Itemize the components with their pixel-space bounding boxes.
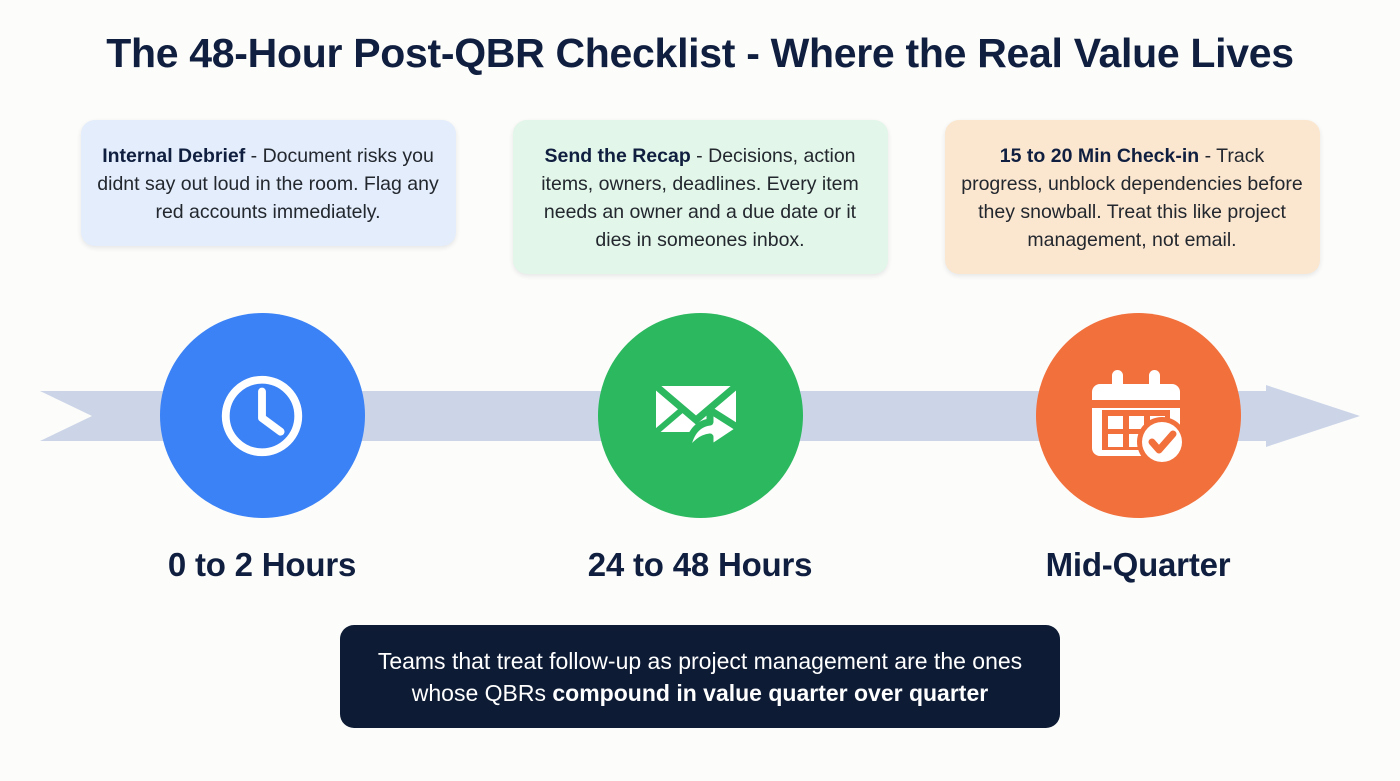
description-card-3: 15 to 20 Min Check-in - Track progress, … bbox=[945, 120, 1320, 274]
infographic-root: The 48-Hour Post-QBR Checklist - Where t… bbox=[0, 0, 1400, 781]
stage-3: Mid-Quarter bbox=[1036, 313, 1241, 584]
stage-2: 24 to 48 Hours bbox=[598, 313, 803, 584]
footer-banner: Teams that treat follow-up as project ma… bbox=[340, 625, 1060, 728]
stage-row: 0 to 2 Hours 24 to 48 Hours bbox=[0, 313, 1400, 593]
stage-1-label: 0 to 2 Hours bbox=[168, 546, 356, 584]
clock-icon bbox=[213, 367, 311, 465]
card-3-separator: - bbox=[1199, 145, 1216, 167]
card-1-lead: Internal Debrief bbox=[102, 145, 245, 167]
envelope-forward-icon bbox=[648, 364, 752, 468]
description-card-1: Internal Debrief - Document risks you di… bbox=[81, 120, 456, 246]
card-2-lead: Send the Recap bbox=[544, 145, 690, 167]
footer-text-bold: compound in value quarter over quarter bbox=[552, 680, 988, 706]
calendar-check-icon bbox=[1086, 364, 1190, 468]
stage-3-label: Mid-Quarter bbox=[1046, 546, 1231, 584]
footer-banner-text: Teams that treat follow-up as project ma… bbox=[366, 645, 1034, 709]
card-row: Internal Debrief - Document risks you di… bbox=[0, 120, 1400, 285]
stage-1: 0 to 2 Hours bbox=[160, 313, 365, 584]
stage-1-circle bbox=[160, 313, 365, 518]
card-2-separator: - bbox=[691, 145, 708, 167]
card-3-lead: 15 to 20 Min Check-in bbox=[1000, 145, 1199, 167]
card-1-separator: - bbox=[245, 145, 262, 167]
description-card-2: Send the Recap - Decisions, action items… bbox=[513, 120, 888, 274]
stage-2-label: 24 to 48 Hours bbox=[588, 546, 813, 584]
stage-2-circle bbox=[598, 313, 803, 518]
page-title: The 48-Hour Post-QBR Checklist - Where t… bbox=[0, 30, 1400, 77]
stage-3-circle bbox=[1036, 313, 1241, 518]
